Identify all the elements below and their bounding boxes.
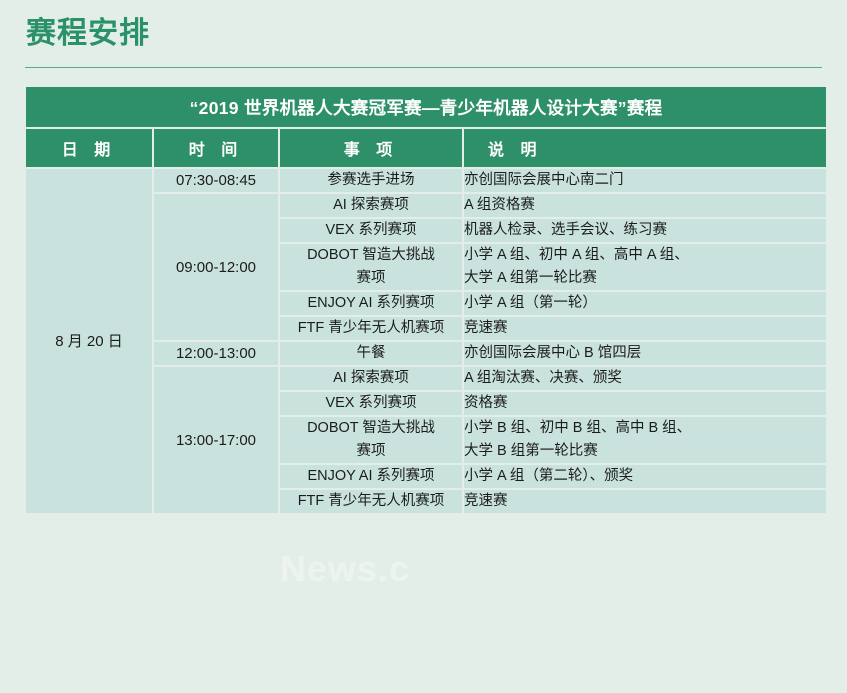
cell-item: 参赛选手进场 — [280, 169, 462, 192]
cell-item: ENJOY AI 系列赛项 — [280, 292, 462, 315]
cell-time: 07:30-08:45 — [154, 169, 278, 192]
heading-divider — [25, 67, 822, 68]
cell-description: A 组资格赛 — [464, 194, 826, 217]
cell-item: ENJOY AI 系列赛项 — [280, 465, 462, 488]
cell-time: 09:00-12:00 — [154, 194, 278, 340]
cell-description: 小学 A 组（第二轮）、颁奖 — [464, 465, 826, 488]
column-header-desc: 说 明 — [464, 129, 826, 167]
cell-description: 亦创国际会展中心 B 馆四层 — [464, 342, 826, 365]
cell-time: 13:00-17:00 — [154, 367, 278, 513]
cell-description: 资格赛 — [464, 392, 826, 415]
table-title-row: “2019 世界机器人大赛冠军赛—青少年机器人设计大赛”赛程 — [26, 87, 826, 127]
cell-item: DOBOT 智造大挑战赛项 — [280, 244, 462, 290]
watermark: News.c — [280, 548, 410, 590]
column-header-date: 日 期 — [26, 129, 152, 167]
cell-item: AI 探索赛项 — [280, 367, 462, 390]
cell-description: 小学 B 组、初中 B 组、高中 B 组、大学 B 组第一轮比赛 — [464, 417, 826, 463]
cell-description: 小学 A 组（第一轮） — [464, 292, 826, 315]
table-header-row: 日 期时 间事 项说 明 — [26, 129, 826, 167]
cell-item: AI 探索赛项 — [280, 194, 462, 217]
cell-item: FTF 青少年无人机赛项 — [280, 317, 462, 340]
cell-description: 竞速赛 — [464, 490, 826, 513]
cell-description: 小学 A 组、初中 A 组、高中 A 组、大学 A 组第一轮比赛 — [464, 244, 826, 290]
table-row: 8 月 20 日07:30-08:45参赛选手进场亦创国际会展中心南二门 — [26, 169, 826, 192]
schedule-table-container: “2019 世界机器人大赛冠军赛—青少年机器人设计大赛”赛程日 期时 间事 项说… — [24, 85, 822, 515]
cell-item: DOBOT 智造大挑战赛项 — [280, 417, 462, 463]
cell-item: FTF 青少年无人机赛项 — [280, 490, 462, 513]
cell-description: A 组淘汰赛、决赛、颁奖 — [464, 367, 826, 390]
cell-item: 午餐 — [280, 342, 462, 365]
cell-description: 机器人检录、选手会议、练习赛 — [464, 219, 826, 242]
cell-date: 8 月 20 日 — [26, 169, 152, 513]
cell-description: 亦创国际会展中心南二门 — [464, 169, 826, 192]
page-title: 赛程安排 — [26, 12, 150, 56]
cell-time: 12:00-13:00 — [154, 342, 278, 365]
table-caption: “2019 世界机器人大赛冠军赛—青少年机器人设计大赛”赛程 — [26, 87, 826, 127]
schedule-table: “2019 世界机器人大赛冠军赛—青少年机器人设计大赛”赛程日 期时 间事 项说… — [24, 85, 828, 515]
cell-item: VEX 系列赛项 — [280, 392, 462, 415]
cell-description: 竞速赛 — [464, 317, 826, 340]
column-header-item: 事 项 — [280, 129, 462, 167]
cell-item: VEX 系列赛项 — [280, 219, 462, 242]
column-header-time: 时 间 — [154, 129, 278, 167]
